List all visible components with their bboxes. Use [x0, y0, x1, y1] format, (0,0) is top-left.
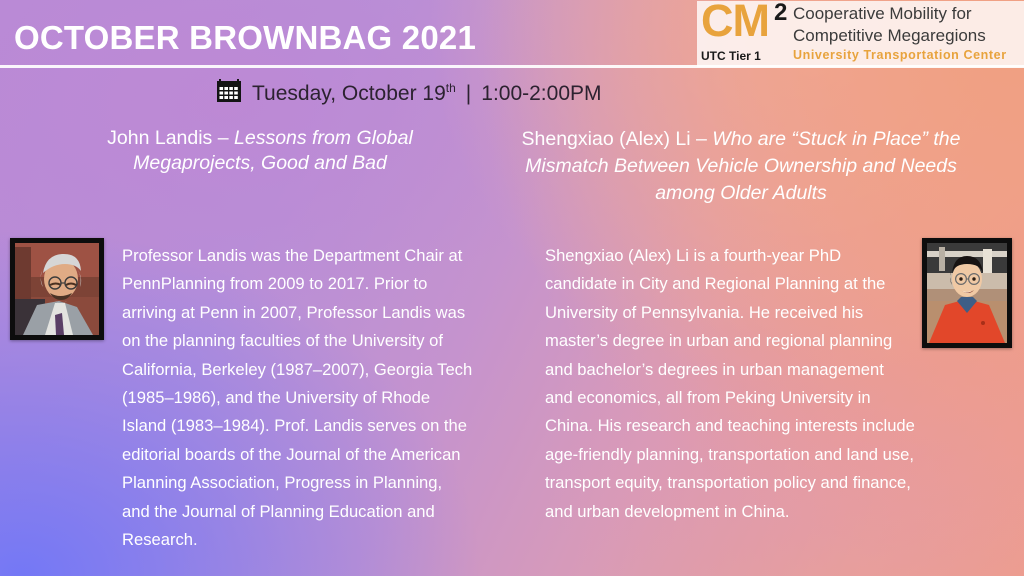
page-title: OCTOBER BROWNBAG 2021: [14, 19, 476, 57]
shengxiao-li-photo: [922, 238, 1012, 348]
speaker-2-bio: Shengxiao (Alex) Li is a fourth-year PhD…: [545, 242, 915, 526]
date-separator: |: [456, 82, 481, 105]
presentation-slide: OCTOBER BROWNBAG 2021 CM 2 UTC Tier 1 Co…: [0, 0, 1024, 576]
calendar-icon: [216, 78, 242, 109]
john-landis-photo: [10, 238, 104, 340]
cm2-logo: CM 2 UTC Tier 1 Cooperative Mobility for…: [697, 1, 1024, 67]
logo-wordmark: Cooperative Mobility for Competitive Meg…: [793, 1, 1024, 67]
speaker-2-heading: Shengxiao (Alex) Li – Who are “Stuck in …: [516, 126, 966, 207]
speaker-1-heading: John Landis – Lessons from Global Megapr…: [50, 126, 470, 176]
logo-cm-text: CM: [701, 1, 769, 45]
speaker-2-name: Shengxiao (Alex) Li –: [522, 128, 713, 150]
logo-center-subtitle: University Transportation Center: [793, 47, 1024, 63]
event-time: 1:00-2:00PM: [481, 82, 601, 105]
event-datetime: Tuesday, October 19th|1:00-2:00PM: [216, 78, 602, 109]
logo-mark: CM 2 UTC Tier 1: [697, 1, 793, 67]
speaker-1-bio: Professor Landis was the Department Chai…: [122, 242, 474, 554]
speaker-1-name: John Landis –: [107, 127, 234, 149]
logo-tagline-line1: Cooperative Mobility for: [793, 3, 1024, 25]
event-day: Tuesday, October 19: [252, 82, 446, 105]
logo-utc-tier-label: UTC Tier 1: [701, 49, 761, 63]
logo-superscript-two: 2: [774, 1, 787, 25]
event-date-text: Tuesday, October 19th|1:00-2:00PM: [252, 81, 602, 106]
logo-tagline-line2: Competitive Megaregions: [793, 25, 1024, 47]
event-day-ordinal: th: [446, 81, 456, 95]
